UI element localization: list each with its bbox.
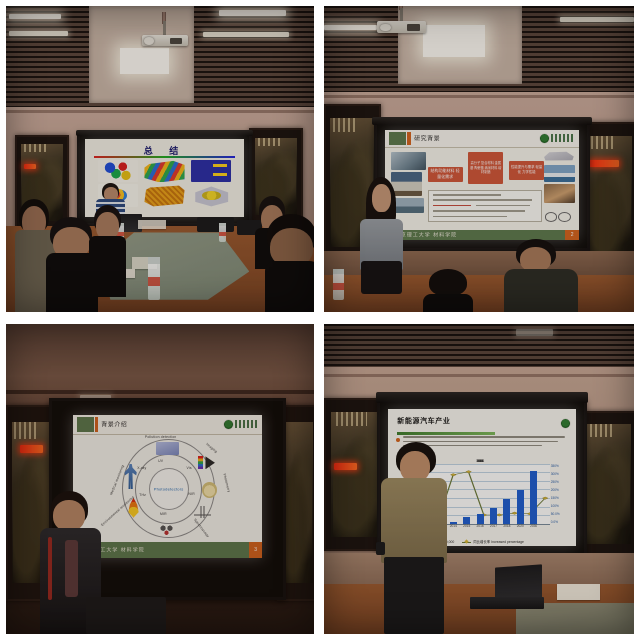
chick-icon bbox=[202, 482, 217, 498]
collage-panel-bottom-right: 新能源汽车产业 bbox=[324, 324, 634, 634]
slide-accent-stripe bbox=[95, 417, 99, 432]
slide-title: 研究背景 bbox=[414, 134, 440, 143]
logo-seal-icon bbox=[540, 134, 549, 143]
diagram-inner-label-nir: NIR bbox=[188, 492, 194, 496]
wall-trim bbox=[324, 374, 634, 377]
bottle-label bbox=[148, 277, 160, 286]
audience-far-right bbox=[265, 214, 314, 312]
projector-vent bbox=[170, 38, 182, 44]
ceiling bbox=[324, 324, 634, 374]
spectrum-icon bbox=[198, 456, 203, 469]
collage-panel-bottom-left: 背景介绍 Photodetectors bbox=[6, 324, 314, 634]
head bbox=[372, 184, 391, 212]
painting-ink bbox=[589, 157, 631, 260]
y2-tick: 0.0% bbox=[551, 520, 558, 524]
shirt bbox=[65, 540, 79, 597]
diagram-label-pollution-detection: Pollution detection bbox=[145, 435, 177, 439]
note-line bbox=[433, 216, 507, 218]
presenter-man bbox=[380, 442, 448, 634]
torso bbox=[504, 269, 578, 312]
laptop bbox=[495, 564, 542, 601]
x-tick: 2014 bbox=[450, 524, 457, 528]
chip-icon bbox=[156, 442, 179, 455]
bottle-cap bbox=[219, 223, 226, 226]
university-logo bbox=[540, 134, 573, 143]
diagram-label-photometry: Photometry bbox=[222, 473, 231, 493]
bicycle-line-art bbox=[544, 205, 571, 220]
equipment-case bbox=[197, 217, 234, 232]
bar-2017: 77.7 bbox=[490, 508, 497, 524]
body-line bbox=[403, 436, 565, 438]
y2-tick: 300% bbox=[551, 472, 559, 476]
conference-room-scene: 总 结 bbox=[6, 6, 314, 312]
head bbox=[53, 500, 85, 531]
legend-label: 同比增长率 Increased percentage bbox=[473, 540, 524, 544]
bottle-label bbox=[333, 283, 344, 290]
conference-room-scene: 新能源汽车产业 bbox=[324, 324, 634, 634]
x-tick: 2018 bbox=[503, 524, 510, 528]
torso bbox=[265, 261, 314, 312]
led-sign bbox=[589, 160, 620, 167]
photo-building bbox=[544, 184, 575, 203]
y2-tick: 350% bbox=[551, 464, 559, 468]
painting-calligraphy bbox=[258, 138, 281, 146]
note-line bbox=[433, 210, 525, 212]
audience-center bbox=[423, 269, 473, 312]
logo-wordmark bbox=[551, 134, 573, 142]
ceiling-skylight bbox=[423, 25, 485, 57]
bar-2015: 33.1 bbox=[463, 517, 470, 524]
notebook bbox=[557, 584, 600, 600]
bottle-label bbox=[219, 232, 226, 236]
painting-ink bbox=[283, 449, 313, 584]
jacket-stripe bbox=[48, 537, 52, 600]
logo-seal-icon bbox=[561, 419, 570, 428]
screen-top-bar bbox=[376, 392, 589, 403]
bar-2020: 200 bbox=[517, 490, 524, 524]
slide-divider bbox=[397, 432, 495, 435]
ceiling-projector bbox=[377, 8, 427, 33]
water-bottle bbox=[219, 223, 226, 241]
painting-calligraphy bbox=[333, 118, 357, 132]
bike-wheel bbox=[545, 212, 558, 222]
diagram-inner-label-mir: MIR bbox=[160, 512, 167, 516]
led-sign bbox=[20, 445, 43, 453]
slide-title: 新能源汽车产业 bbox=[397, 416, 450, 426]
secondary-y-axis-labels: 350% 300% 250% 200% 150% 100% 50.0% 0.0% bbox=[550, 464, 560, 524]
laser-pointer bbox=[376, 542, 386, 555]
ceiling-light bbox=[219, 10, 287, 16]
handbag bbox=[361, 261, 402, 294]
thumb-colorful-nanostructure-plot bbox=[98, 160, 138, 182]
wall-trim bbox=[324, 95, 634, 98]
water-bottle bbox=[333, 269, 344, 300]
diagram-inner-label-vis: Vis bbox=[187, 466, 192, 470]
note-line-highlight bbox=[433, 205, 471, 207]
x-tick: 2015 bbox=[463, 524, 470, 528]
slide-research-background: 研究背景 结 bbox=[385, 130, 579, 240]
conference-room-scene: 背景介绍 Photodetectors bbox=[6, 324, 314, 634]
logo-wordmark bbox=[235, 420, 257, 428]
slide-title: 总 结 bbox=[85, 144, 244, 157]
ceiling-skylight bbox=[120, 48, 169, 74]
painting-calligraphy bbox=[24, 144, 47, 152]
ceiling-light bbox=[9, 14, 61, 20]
y2-tick: 200% bbox=[551, 488, 559, 492]
ceiling-light bbox=[324, 25, 377, 30]
thumb-blue-panel-with-yellow-stripes bbox=[191, 160, 231, 182]
logo-seal-icon bbox=[224, 420, 233, 429]
y2-tick: 50.0% bbox=[551, 512, 560, 516]
university-logo bbox=[224, 419, 257, 429]
projector-lens bbox=[380, 24, 391, 32]
trousers bbox=[384, 557, 444, 634]
diagram-inner-label-xray: X-ray bbox=[137, 466, 146, 470]
painting-calligraphy bbox=[336, 412, 367, 425]
pulse-icon bbox=[194, 506, 211, 517]
painting-ink bbox=[583, 444, 630, 544]
painting-calligraphy bbox=[585, 424, 612, 437]
diagram-label-imaging: Imaging bbox=[206, 443, 219, 455]
hub-label: Photodetectors bbox=[150, 486, 188, 491]
molecule-icon bbox=[158, 523, 175, 536]
diagram-hub: Photodetectors bbox=[149, 468, 189, 510]
slide-accent-stripe bbox=[407, 132, 411, 145]
painting-calligraphy bbox=[14, 422, 35, 439]
photo-collage: 总 结 bbox=[0, 0, 640, 640]
slide-page-number: 3 bbox=[249, 542, 262, 558]
laptop-base bbox=[470, 597, 544, 609]
projector-vent bbox=[407, 24, 420, 30]
screen-top-bar bbox=[372, 117, 591, 126]
torso bbox=[423, 294, 473, 312]
y2-tick: 150% bbox=[551, 496, 559, 500]
photo-fighter-jet bbox=[391, 152, 426, 170]
slide-title: 背景介绍 bbox=[101, 420, 127, 429]
ceiling bbox=[324, 6, 634, 101]
x-tick: 2030 bbox=[530, 524, 537, 528]
collage-panel-top-left: 总 结 bbox=[6, 6, 314, 312]
led-sign bbox=[24, 164, 36, 169]
wall-trim bbox=[6, 110, 314, 113]
audience-right bbox=[504, 239, 578, 312]
bottle-cap bbox=[148, 257, 160, 264]
thumb-yellow-dome-on-grey-block bbox=[191, 184, 231, 207]
torso-jacket bbox=[381, 478, 446, 563]
ceiling-projector bbox=[142, 21, 188, 45]
box-material-types: 高分子 复合材料 金属基 陶瓷基 纳米材料 增材制造 bbox=[468, 152, 503, 184]
led-sign bbox=[334, 463, 357, 470]
legend-line-marker bbox=[462, 542, 471, 543]
box-lightweight-demand: 结构功能材料 轻量化需求 bbox=[428, 167, 463, 182]
diagram-inner-label-thz: THz bbox=[139, 493, 146, 497]
legend-item-increase: 同比增长率 Increased percentage bbox=[462, 539, 524, 544]
bike-wheel bbox=[558, 212, 571, 222]
x-tick: 2016 bbox=[477, 524, 484, 528]
painting-calligraphy bbox=[591, 136, 615, 149]
y2-tick: 250% bbox=[551, 480, 559, 484]
projector-lens bbox=[144, 37, 154, 45]
slide-header: 研究背景 bbox=[385, 130, 579, 148]
projector-mount bbox=[163, 21, 166, 36]
x-tick: 2020 bbox=[517, 524, 524, 528]
note-line bbox=[433, 199, 532, 201]
thumb-orange-porous-cube bbox=[144, 184, 184, 207]
ceiling-light bbox=[516, 329, 553, 336]
bar-2018: 125.6 bbox=[503, 499, 510, 524]
projector-body bbox=[377, 21, 427, 32]
photo-cargo-ship bbox=[544, 165, 575, 182]
ceiling-light bbox=[9, 31, 68, 35]
wall-trim bbox=[6, 390, 314, 394]
audience-third bbox=[89, 205, 126, 297]
slide-header: 背景介绍 bbox=[73, 415, 262, 435]
projection-screen: 研究背景 结 bbox=[374, 122, 591, 250]
thumb-striped-cube-microstructure bbox=[144, 160, 184, 182]
projector-body bbox=[142, 35, 188, 46]
y2-tick: 100% bbox=[551, 504, 559, 508]
diagram-inner-label-uv: UV bbox=[158, 459, 163, 463]
x-tick: 2017 bbox=[490, 524, 497, 528]
presenter-woman bbox=[358, 177, 405, 293]
slide-accent-tab bbox=[389, 132, 406, 145]
ceiling bbox=[6, 6, 314, 116]
slide-divider bbox=[94, 156, 234, 158]
slide-accent-tab bbox=[77, 417, 94, 432]
box-performance-requirements: 性能提升与需求 轻量化 力学性能 bbox=[509, 161, 544, 180]
ceiling-light bbox=[203, 32, 289, 36]
ceiling-light bbox=[560, 17, 634, 22]
chair bbox=[86, 597, 166, 634]
note-line bbox=[433, 194, 500, 196]
bar-2030: 500 bbox=[530, 471, 537, 524]
collage-panel-top-right: 研究背景 结 bbox=[324, 6, 634, 312]
bar-label: 500 bbox=[477, 459, 483, 463]
conference-room-scene: 研究背景 结 bbox=[324, 6, 634, 312]
paper bbox=[138, 220, 166, 229]
water-bottle bbox=[148, 257, 160, 300]
slide-note-box bbox=[428, 190, 542, 223]
bar-2016: 50.7 bbox=[477, 514, 484, 524]
hair bbox=[429, 269, 467, 296]
screen-top-bar bbox=[76, 130, 252, 136]
note-line bbox=[476, 205, 530, 207]
university-logo bbox=[561, 416, 570, 431]
torso bbox=[89, 236, 126, 297]
photo-concept-car bbox=[542, 149, 575, 162]
bottle-cap bbox=[333, 269, 344, 274]
